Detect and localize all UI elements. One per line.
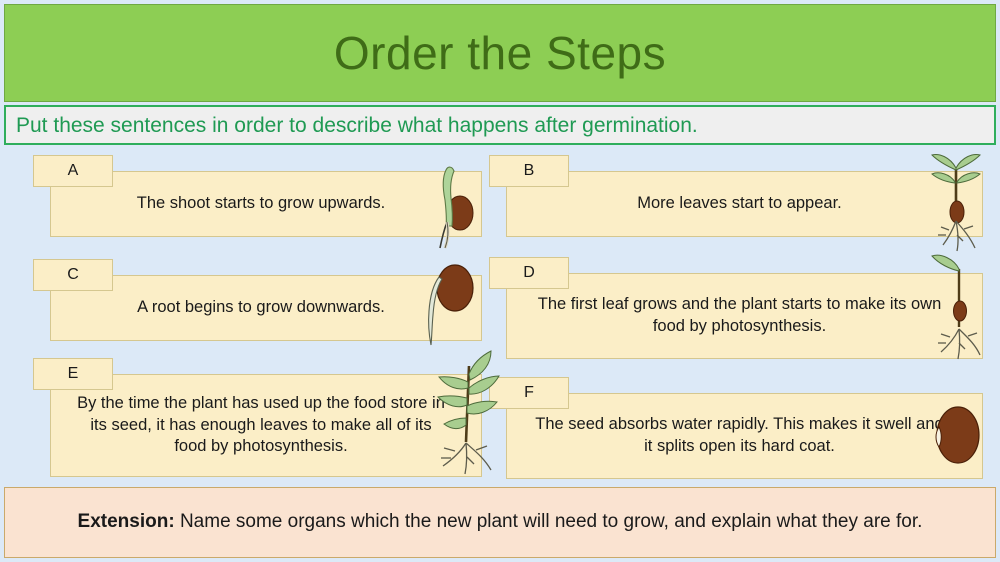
card-b-letter: B	[524, 163, 535, 179]
extension-text: Extension: Name some organs which the ne…	[78, 510, 923, 535]
card-d-text: The first leaf grows and the plant start…	[531, 294, 948, 338]
card-f-body: The seed absorbs water rapidly. This mak…	[506, 393, 983, 479]
card-b-letter-tab: B	[489, 155, 569, 187]
extension-bar: Extension: Name some organs which the ne…	[4, 487, 996, 558]
card-d-letter: D	[523, 265, 535, 281]
card-e-letter: E	[68, 366, 79, 382]
extension-label: Extension:	[78, 511, 175, 532]
card-d-body: The first leaf grows and the plant start…	[506, 273, 983, 359]
card-d-letter-tab: D	[489, 257, 569, 289]
card-c-text: A root begins to grow downwards.	[75, 297, 447, 319]
page-title: Order the Steps	[334, 30, 666, 76]
instruction-text: Put these sentences in order to describe…	[16, 115, 698, 136]
card-c-body: A root begins to grow downwards.	[50, 275, 482, 341]
card-a-letter: A	[68, 163, 79, 179]
title-bar: Order the Steps	[4, 4, 996, 102]
instruction-bar: Put these sentences in order to describe…	[4, 105, 996, 145]
card-e-text: By the time the plant has used up the fo…	[75, 393, 447, 458]
card-a-text: The shoot starts to grow upwards.	[75, 193, 447, 215]
card-e-letter-tab: E	[33, 358, 113, 390]
card-f-letter: F	[524, 385, 534, 401]
extension-question: Name some organs which the new plant wil…	[175, 511, 923, 532]
card-f-text: The seed absorbs water rapidly. This mak…	[531, 414, 948, 458]
card-e-body: By the time the plant has used up the fo…	[50, 374, 482, 477]
slide-canvas: Order the Steps Put these sentences in o…	[0, 0, 1000, 562]
card-c-letter: C	[67, 267, 79, 283]
card-f-letter-tab: F	[489, 377, 569, 409]
card-a-body: The shoot starts to grow upwards.	[50, 171, 482, 237]
card-a-letter-tab: A	[33, 155, 113, 187]
card-b-text: More leaves start to appear.	[531, 193, 948, 215]
card-b-body: More leaves start to appear.	[506, 171, 983, 237]
cards-area: A The shoot starts to grow upwards.	[0, 145, 1000, 485]
card-c-letter-tab: C	[33, 259, 113, 291]
